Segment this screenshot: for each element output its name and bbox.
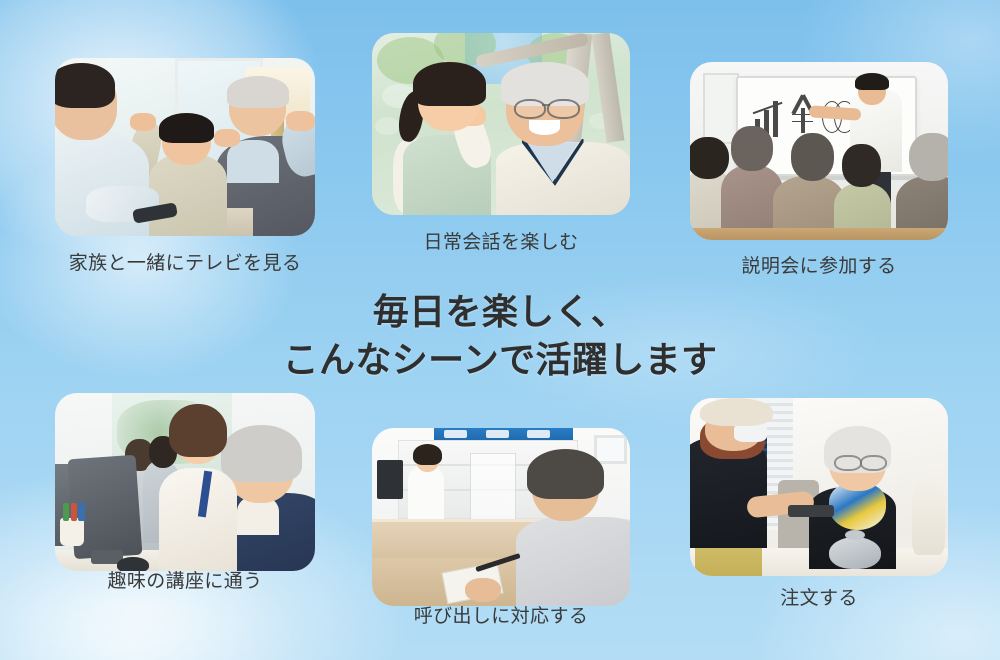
audience-member-2-head	[731, 126, 772, 171]
photo-card-seminar[interactable]	[690, 62, 948, 240]
grandfather-smile	[529, 120, 560, 135]
grandfather-hand	[214, 129, 240, 147]
scene-order	[690, 398, 948, 576]
caption-order: 注文する	[690, 588, 948, 611]
counter-partition	[470, 453, 516, 521]
audience-member-5-head	[909, 133, 948, 181]
grandfather-hair	[227, 76, 289, 108]
photo-reception-call	[372, 428, 630, 606]
photo-seminar	[690, 62, 948, 240]
teapot	[829, 537, 881, 569]
senior-student-hair	[221, 425, 302, 482]
pen-green	[63, 503, 70, 521]
grandfather-shirt	[227, 140, 279, 183]
reception-kiosk	[377, 460, 403, 499]
boy-hair	[159, 113, 214, 143]
girl-hair	[413, 62, 485, 106]
headline-line-2: こんなシーンで活躍します	[0, 336, 1000, 384]
customer-eyeglasses-right	[860, 455, 887, 471]
audience-member-4-head	[842, 144, 881, 187]
pen-red	[71, 503, 78, 521]
instructor-hair	[169, 404, 226, 457]
customer-shirt	[516, 517, 630, 606]
caption-seminar: 説明会に参加する	[690, 256, 948, 279]
customer-hand	[465, 578, 501, 603]
banner-label-1	[444, 430, 467, 437]
page-title: 毎日を楽しく、 こんなシーンで活躍します	[0, 288, 1000, 383]
scene-daily-conversation	[372, 33, 630, 215]
caption-daily-conversation: 日常会話を楽しむ	[372, 232, 630, 255]
photo-card-family-tv[interactable]	[55, 58, 315, 236]
photo-order	[690, 398, 948, 576]
pen-blue	[78, 503, 85, 521]
photo-family-tv	[55, 58, 315, 236]
caption-reception-call: 呼び出しに対応する	[372, 606, 630, 629]
photo-card-order[interactable]	[690, 398, 948, 576]
photo-hobby-class	[55, 393, 315, 571]
scene-hobby-class	[55, 393, 315, 571]
computer-mouse	[117, 557, 148, 571]
father-hair	[55, 63, 115, 108]
back-window	[594, 435, 628, 463]
headline-line-1: 毎日を楽しく、	[0, 288, 1000, 336]
pharmacist-coat	[408, 467, 444, 524]
photo-card-daily-conversation[interactable]	[372, 33, 630, 215]
bokeh-2	[375, 117, 401, 135]
caption-family-tv: 家族と一緒にテレビを見る	[55, 253, 315, 276]
caption-hobby-class: 趣味の講座に通う	[55, 571, 315, 594]
scene-seminar	[690, 62, 948, 240]
banner-label-3	[527, 430, 550, 437]
instructor-blouse	[159, 468, 237, 571]
boy-body	[149, 154, 227, 236]
audience-member-3-head	[791, 133, 835, 181]
whiteboard-yen-bar-2	[792, 121, 813, 122]
scene-reception-call	[372, 428, 630, 606]
boy-raised-fist	[130, 113, 156, 131]
eyeglasses-left-lens	[514, 99, 546, 119]
classroom-desks	[690, 228, 948, 240]
eyeglasses-right-lens	[547, 99, 579, 119]
photo-daily-conversation	[372, 33, 630, 215]
photo-card-hobby-class[interactable]	[55, 393, 315, 571]
grandfather-hair	[501, 62, 589, 106]
grandfather-raised-fist	[286, 111, 315, 131]
decorative-vase	[912, 476, 946, 554]
customer-hair	[527, 449, 604, 499]
customer-eyeglasses-left	[834, 455, 861, 471]
staff-hat	[700, 398, 772, 426]
side-board	[703, 73, 739, 144]
pharmacist-hair	[413, 444, 441, 465]
serving-tray	[788, 505, 834, 517]
whiteboard-bar-3	[773, 101, 779, 137]
eyeglasses-bridge	[542, 104, 550, 106]
poster-root: 家族と一緒にテレビを見る	[0, 0, 1000, 660]
scene-family-tv	[55, 58, 315, 236]
presenter-hair	[855, 73, 889, 91]
banner-label-2	[486, 430, 509, 437]
photo-card-reception-call[interactable]	[372, 428, 630, 606]
pen-cup	[60, 518, 83, 546]
audience-member-1-head	[690, 137, 729, 180]
